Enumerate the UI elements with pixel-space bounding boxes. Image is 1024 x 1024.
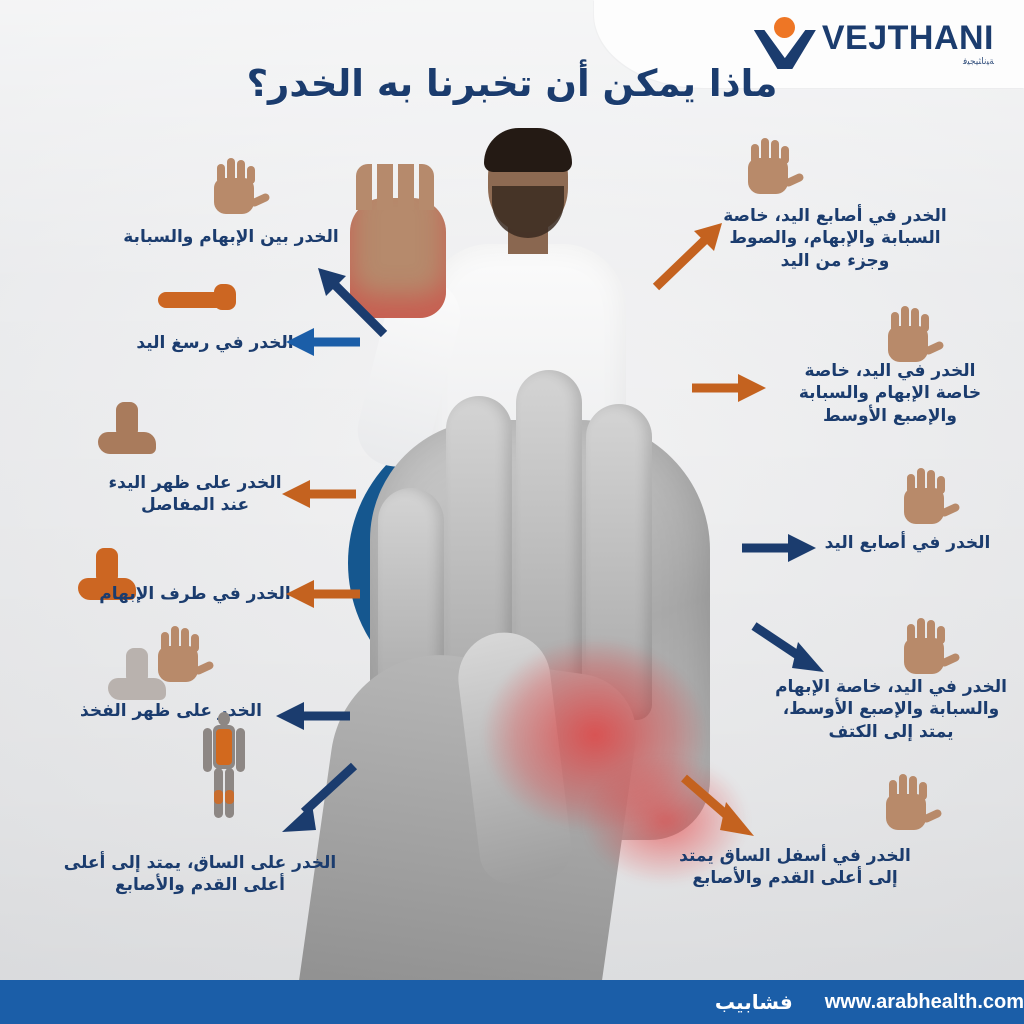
label-right-2: الخدر في اليد، خاصة خاصة الإبهام والسباب… xyxy=(760,360,1020,427)
logo-head-circle xyxy=(774,17,795,38)
hands-pain-photo xyxy=(300,360,780,1024)
label-right-5: الخدر في أسفل الساق يمتد إلى أعلى القدم … xyxy=(650,845,940,890)
hand-icon xyxy=(898,612,952,674)
infographic-poster: VEJTHANI ﺔﻴﻧﺎﺜﻴﺠﻴﻓ ماذا يمكن أن تخبرنا ب… xyxy=(0,0,1024,1024)
arrow-up-right-orange xyxy=(650,215,730,295)
forearm-icon xyxy=(158,282,236,316)
logo-name: VEJTHANI xyxy=(822,21,994,55)
arrow-down-left-navy xyxy=(268,760,358,840)
hand-icon xyxy=(882,300,936,362)
foot-icon xyxy=(98,402,156,458)
footer-arabic-text: فشابيب xyxy=(715,990,793,1014)
footer-url[interactable]: www.arabhealth.com xyxy=(825,991,1024,1014)
arrow-left-navy xyxy=(282,320,362,364)
label-left-1: الخدر بين الإبهام والسبابة xyxy=(100,226,362,248)
person-beard xyxy=(492,186,564,238)
arrow-left-orange xyxy=(278,472,358,516)
hand-icon xyxy=(880,768,934,830)
arrow-right-orange xyxy=(690,368,770,408)
hand-icon xyxy=(208,152,262,214)
person-hair xyxy=(484,128,572,172)
logo-wordmark: VEJTHANI ﺔﻴﻧﺎﺜﻴﺠﻴﻓ xyxy=(822,21,994,67)
label-left-5: الخدر على ظهر الفخذ xyxy=(40,700,302,722)
hand-icon xyxy=(742,132,796,194)
arrow-down-right-navy xyxy=(750,618,830,678)
foot-hand-icon xyxy=(108,648,166,704)
label-right-3: الخدر في أصابع اليد xyxy=(800,532,1015,554)
arrow-right-navy xyxy=(740,528,820,568)
hand-icon xyxy=(898,462,952,524)
arrow-down-right-orange xyxy=(680,772,760,842)
label-left-6: الخدر على الساق، يمتد إلى أعلى أعلى القد… xyxy=(50,852,350,897)
footer-bar: www.arabhealth.com فشابيب xyxy=(0,980,1024,1024)
arrow-left-orange xyxy=(282,572,362,616)
page-title: ماذا يمكن أن تخبرنا به الخدر؟ xyxy=(0,62,1024,105)
body-icon xyxy=(196,712,252,820)
label-right-4: الخدر في اليد، خاصة الإبهام والسبابة وال… xyxy=(762,676,1020,743)
arrow-left-navy xyxy=(272,694,352,738)
